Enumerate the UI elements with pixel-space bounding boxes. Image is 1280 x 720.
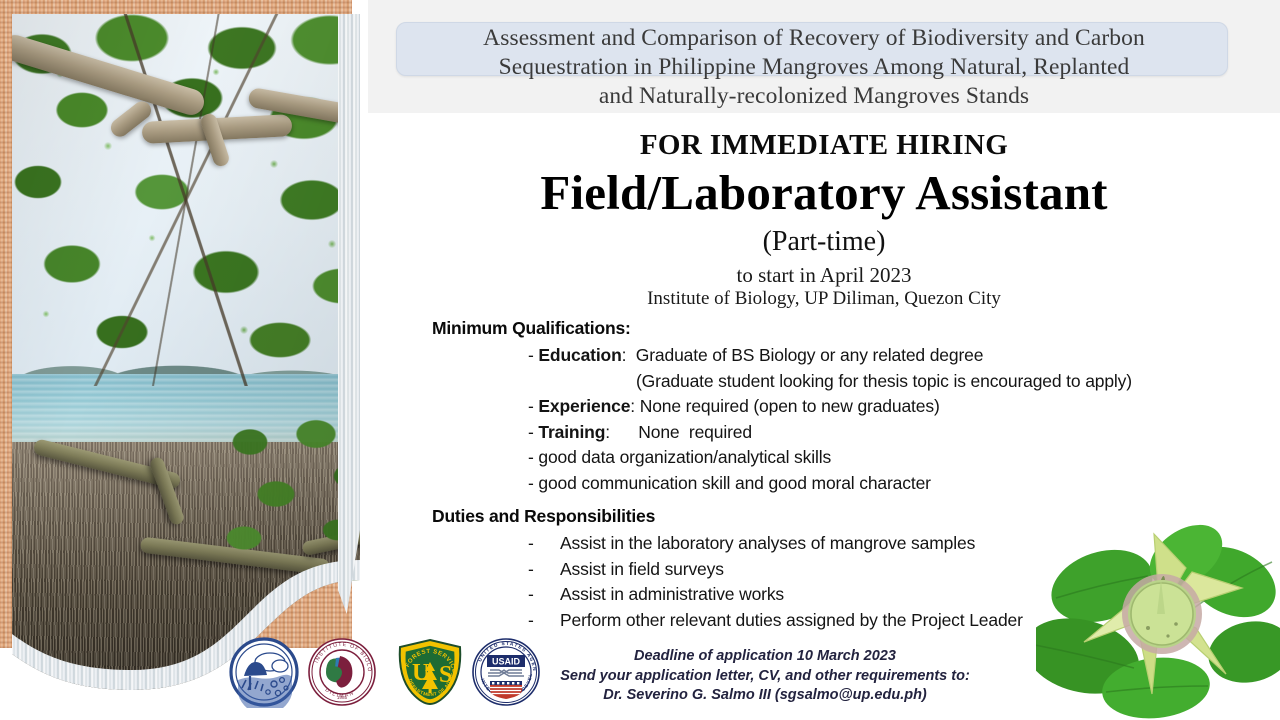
qualification-item: (Graduate student looking for thesis top… xyxy=(528,369,1228,395)
duty-text: Perform other relevant duties assigned b… xyxy=(560,608,1023,634)
qualification-item: - good communication skill and good mora… xyxy=(528,471,1228,497)
qualification-label: Experience xyxy=(538,396,630,416)
duty-text: Assist in administrative works xyxy=(560,582,784,608)
institute-location: Institute of Biology, UP Diliman, Quezon… xyxy=(368,288,1280,310)
duty-bullet: - xyxy=(528,608,560,634)
start-date: to start in April 2023 xyxy=(368,263,1280,288)
qualification-label: Training xyxy=(538,422,605,442)
mangrove-photograph xyxy=(12,14,360,690)
institute-of-biology-seal-icon: INSTITUTE OF BIOLOGY U.P. DILIMAN 1985 xyxy=(306,636,378,708)
employment-type: (Part-time) xyxy=(368,226,1280,258)
qualifications-list: - Education: Graduate of BS Biology or a… xyxy=(528,343,1228,497)
partner-logos: INSTITUTE OF BIOLOGY U.P. DILIMAN 1985 F… xyxy=(228,636,548,712)
poster-canvas: Assessment and Comparison of Recovery of… xyxy=(0,0,1280,720)
duty-bullet: - xyxy=(528,531,560,557)
qualification-item: - Experience: None required (open to new… xyxy=(528,394,1228,420)
forest-service-shield-icon: FOREST SERVICE U S DEPARTMENT OF AGRICUL… xyxy=(394,636,466,708)
qualification-item: - good data organization/analytical skil… xyxy=(528,445,1228,471)
project-title: Assessment and Comparison of Recovery of… xyxy=(372,24,1256,111)
duty-bullet: - xyxy=(528,582,560,608)
job-title: Field/Laboratory Assistant xyxy=(368,164,1280,221)
qualifications-heading: Minimum Qualifications: xyxy=(432,318,631,339)
qualification-label: Education xyxy=(538,345,621,365)
duty-bullet: - xyxy=(528,557,560,583)
svg-text:1985: 1985 xyxy=(337,695,348,700)
mangrove-photo-panel xyxy=(0,0,366,690)
usaid-seal-icon: UNITED STATES AGENCY INTERNATIONAL DEVEL… xyxy=(470,636,542,708)
application-footer: Deadline of application 10 March 2023 Se… xyxy=(520,647,1010,706)
duties-heading: Duties and Responsibilities xyxy=(432,506,655,527)
duty-text: Assist in field surveys xyxy=(560,557,724,583)
qualification-item: - Education: Graduate of BS Biology or a… xyxy=(528,343,1228,369)
svg-text:USAID: USAID xyxy=(492,657,521,667)
mangrove-flower-image xyxy=(1036,516,1280,720)
duty-text: Assist in the laboratory analyses of man… xyxy=(560,531,975,557)
photo-right-border-strip xyxy=(338,14,360,614)
hiring-label: FOR IMMEDIATE HIRING xyxy=(368,129,1280,162)
mangrove-ecology-seal-icon xyxy=(228,636,300,708)
qualification-item: - Training: None required xyxy=(528,420,1228,446)
